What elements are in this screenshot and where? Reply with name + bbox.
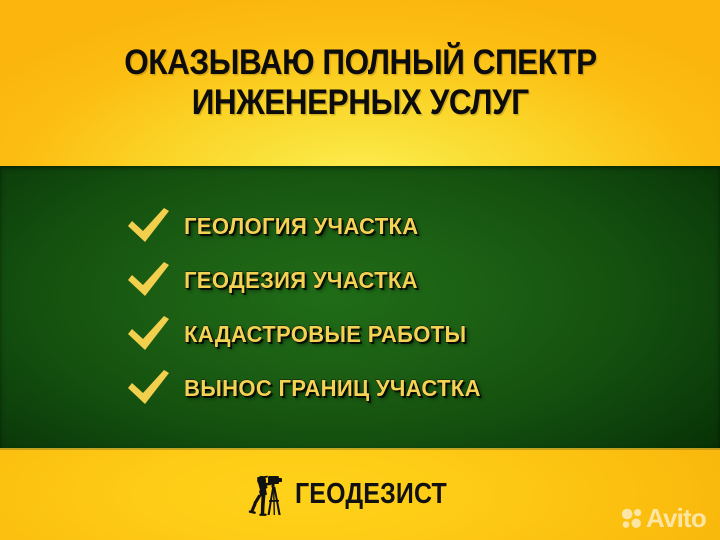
service-label: ГЕОДЕЗИЯ УЧАСТКА — [184, 267, 418, 294]
checkmark-icon — [126, 368, 172, 408]
list-item: ГЕОЛОГИЯ УЧАСТКА — [126, 199, 720, 253]
list-item: КАДАСТРОВЫЕ РАБОТЫ — [126, 307, 720, 361]
service-label: ГЕОЛОГИЯ УЧАСТКА — [184, 213, 418, 240]
poster-footer: ГЕОДЕЗИСТ Avito — [0, 448, 720, 540]
surveyor-theodolite-icon — [248, 471, 288, 517]
avito-wordmark: Avito — [646, 505, 706, 531]
service-label: ВЫНОС ГРАНИЦ УЧАСТКА — [184, 375, 481, 402]
checkmark-icon — [126, 260, 172, 300]
brand-logo: ГЕОДЕЗИСТ — [0, 448, 720, 540]
services-panel: ГЕОЛОГИЯ УЧАСТКА ГЕОДЕЗИЯ УЧАСТКА КАДАСТ… — [0, 166, 720, 448]
checkmark-icon — [126, 314, 172, 354]
advertisement-poster: ОКАЗЫВАЮ ПОЛНЫЙ СПЕКТР ИНЖЕНЕРНЫХ УСЛУГ … — [0, 0, 720, 540]
avito-dots-icon — [621, 507, 643, 529]
brand-name: ГЕОДЕЗИСТ — [295, 478, 447, 511]
service-label: КАДАСТРОВЫЕ РАБОТЫ — [184, 321, 466, 348]
checkmark-icon — [126, 206, 172, 246]
headline-line-1: ОКАЗЫВАЮ ПОЛНЫЙ СПЕКТР — [124, 45, 596, 81]
avito-watermark: Avito — [621, 505, 706, 531]
list-item: ГЕОДЕЗИЯ УЧАСТКА — [126, 253, 720, 307]
list-item: ВЫНОС ГРАНИЦ УЧАСТКА — [126, 361, 720, 415]
poster-header: ОКАЗЫВАЮ ПОЛНЫЙ СПЕКТР ИНЖЕНЕРНЫХ УСЛУГ — [0, 0, 720, 166]
headline-line-2: ИНЖЕНЕРНЫХ УСЛУГ — [192, 85, 529, 121]
